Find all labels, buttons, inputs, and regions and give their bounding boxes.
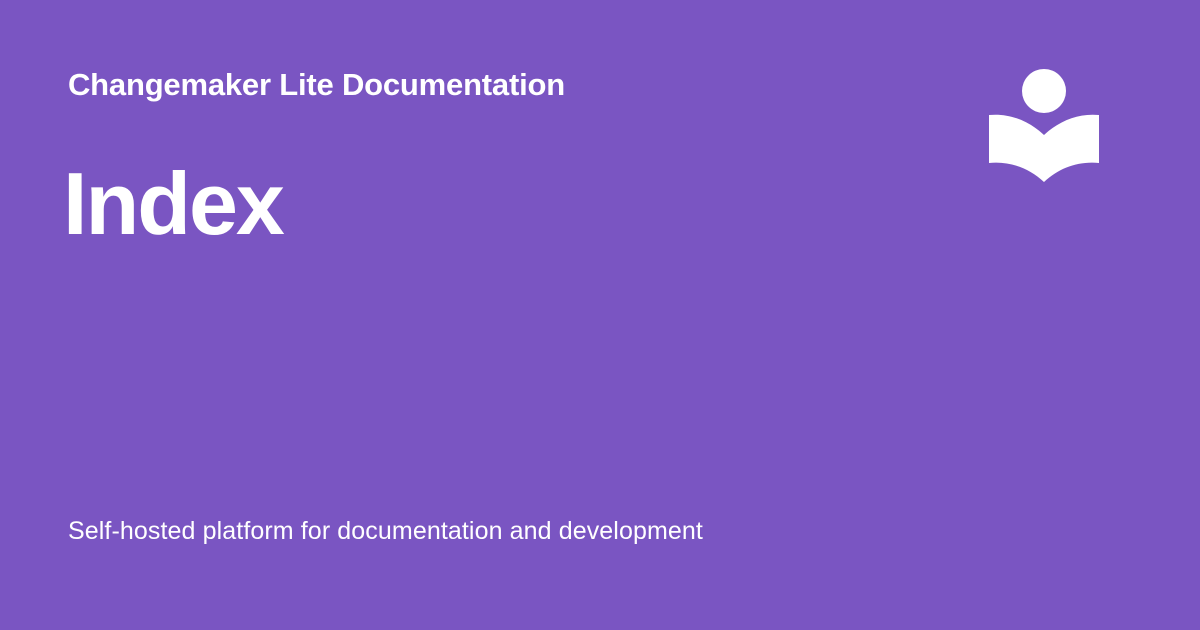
open-book-reader-icon: [984, 62, 1106, 188]
card-text-column: Changemaker Lite Documentation Index Sel…: [68, 0, 948, 630]
page-title: Index: [63, 158, 283, 250]
logo: [984, 62, 1106, 188]
site-title: Changemaker Lite Documentation: [68, 68, 565, 102]
card-description: Self-hosted platform for documentation a…: [68, 515, 703, 548]
social-preview-card: Changemaker Lite Documentation Index Sel…: [0, 0, 1200, 630]
